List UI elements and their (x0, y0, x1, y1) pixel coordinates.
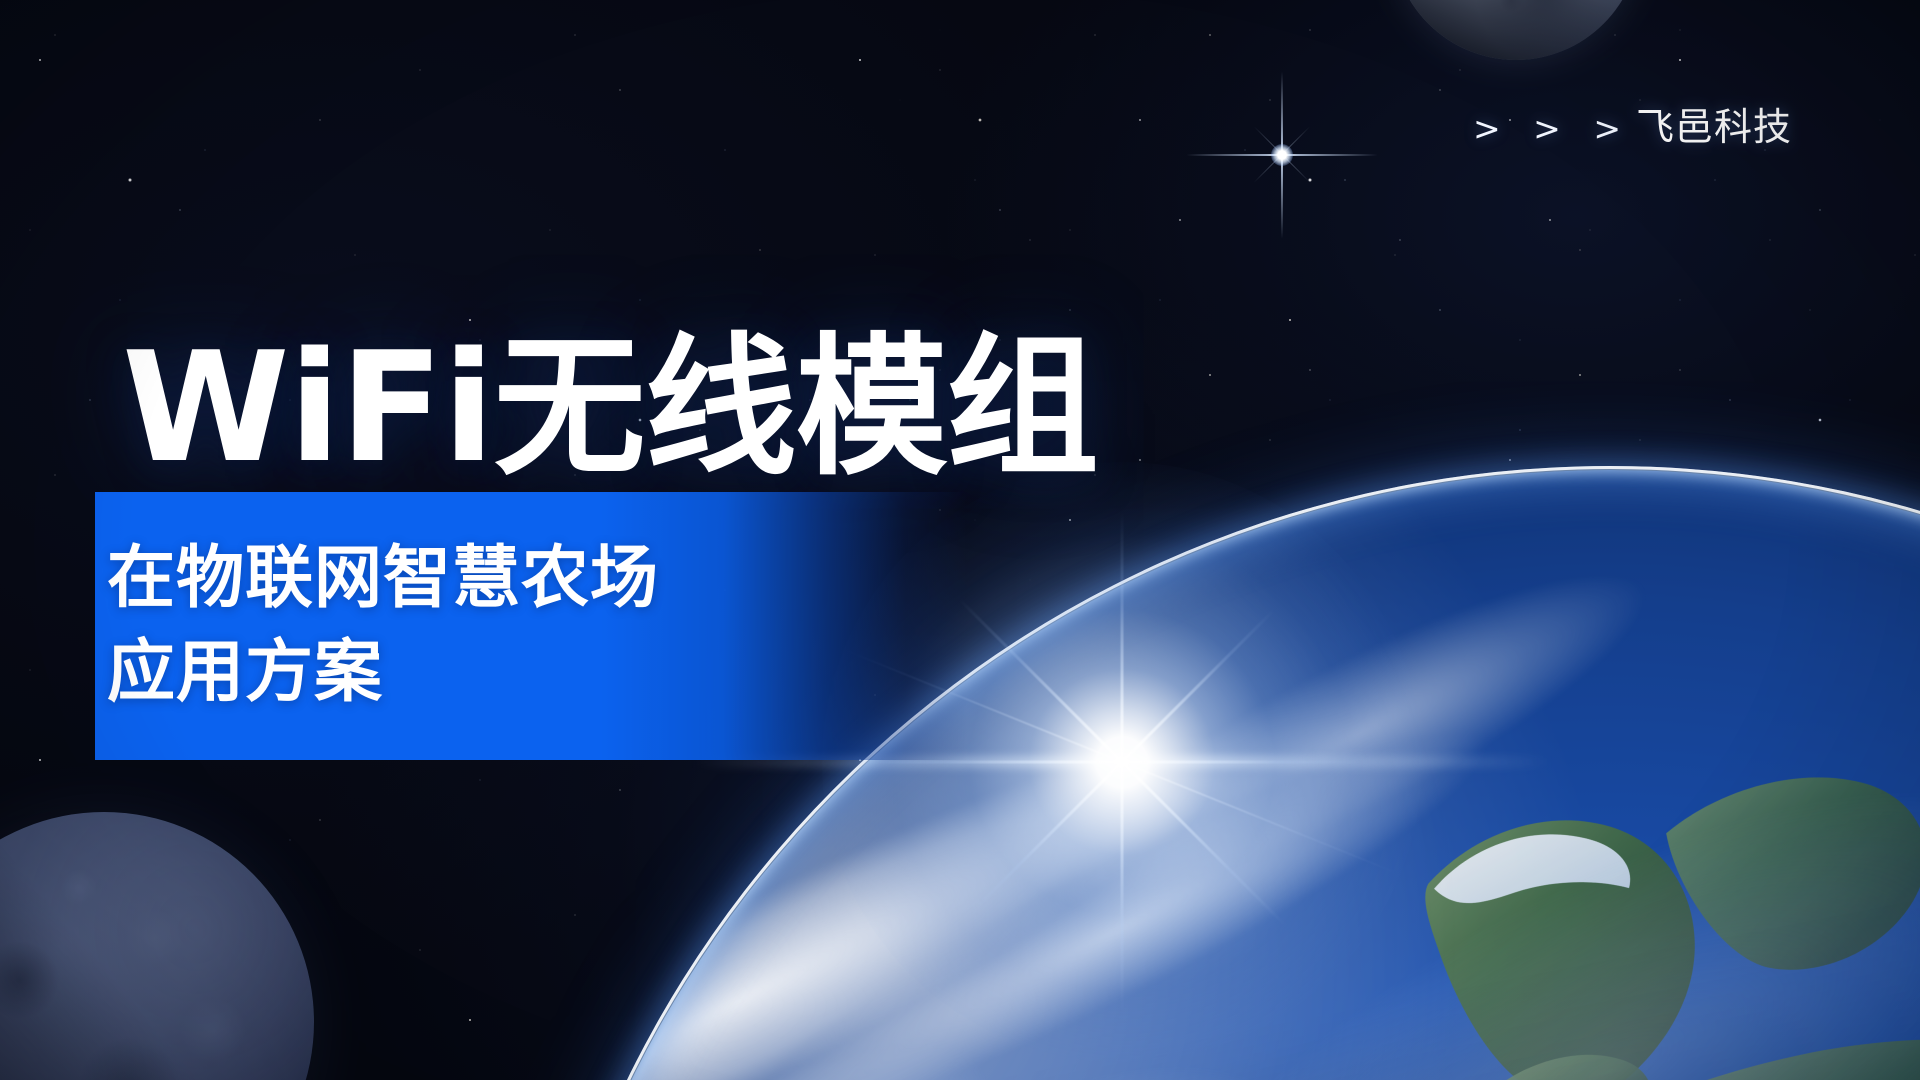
brand-name: 飞邑科技 (1636, 108, 1792, 146)
subtitle-text-group: 在物联网智慧农场 应用方案 (107, 492, 967, 760)
brand-logo: > > > 飞邑科技 (1473, 108, 1792, 146)
slide-canvas: > > > 飞邑科技 WiFi无线模组 在物联网智慧农场 应用方案 (0, 0, 1920, 1080)
star-core (1271, 144, 1293, 166)
subtitle-line-2: 应用方案 (107, 639, 967, 707)
page-title: WiFi无线模组 (122, 330, 1098, 485)
subtitle-line-1: 在物联网智慧农场 (107, 545, 967, 613)
chevron-right-icon: > > > (1473, 112, 1632, 145)
